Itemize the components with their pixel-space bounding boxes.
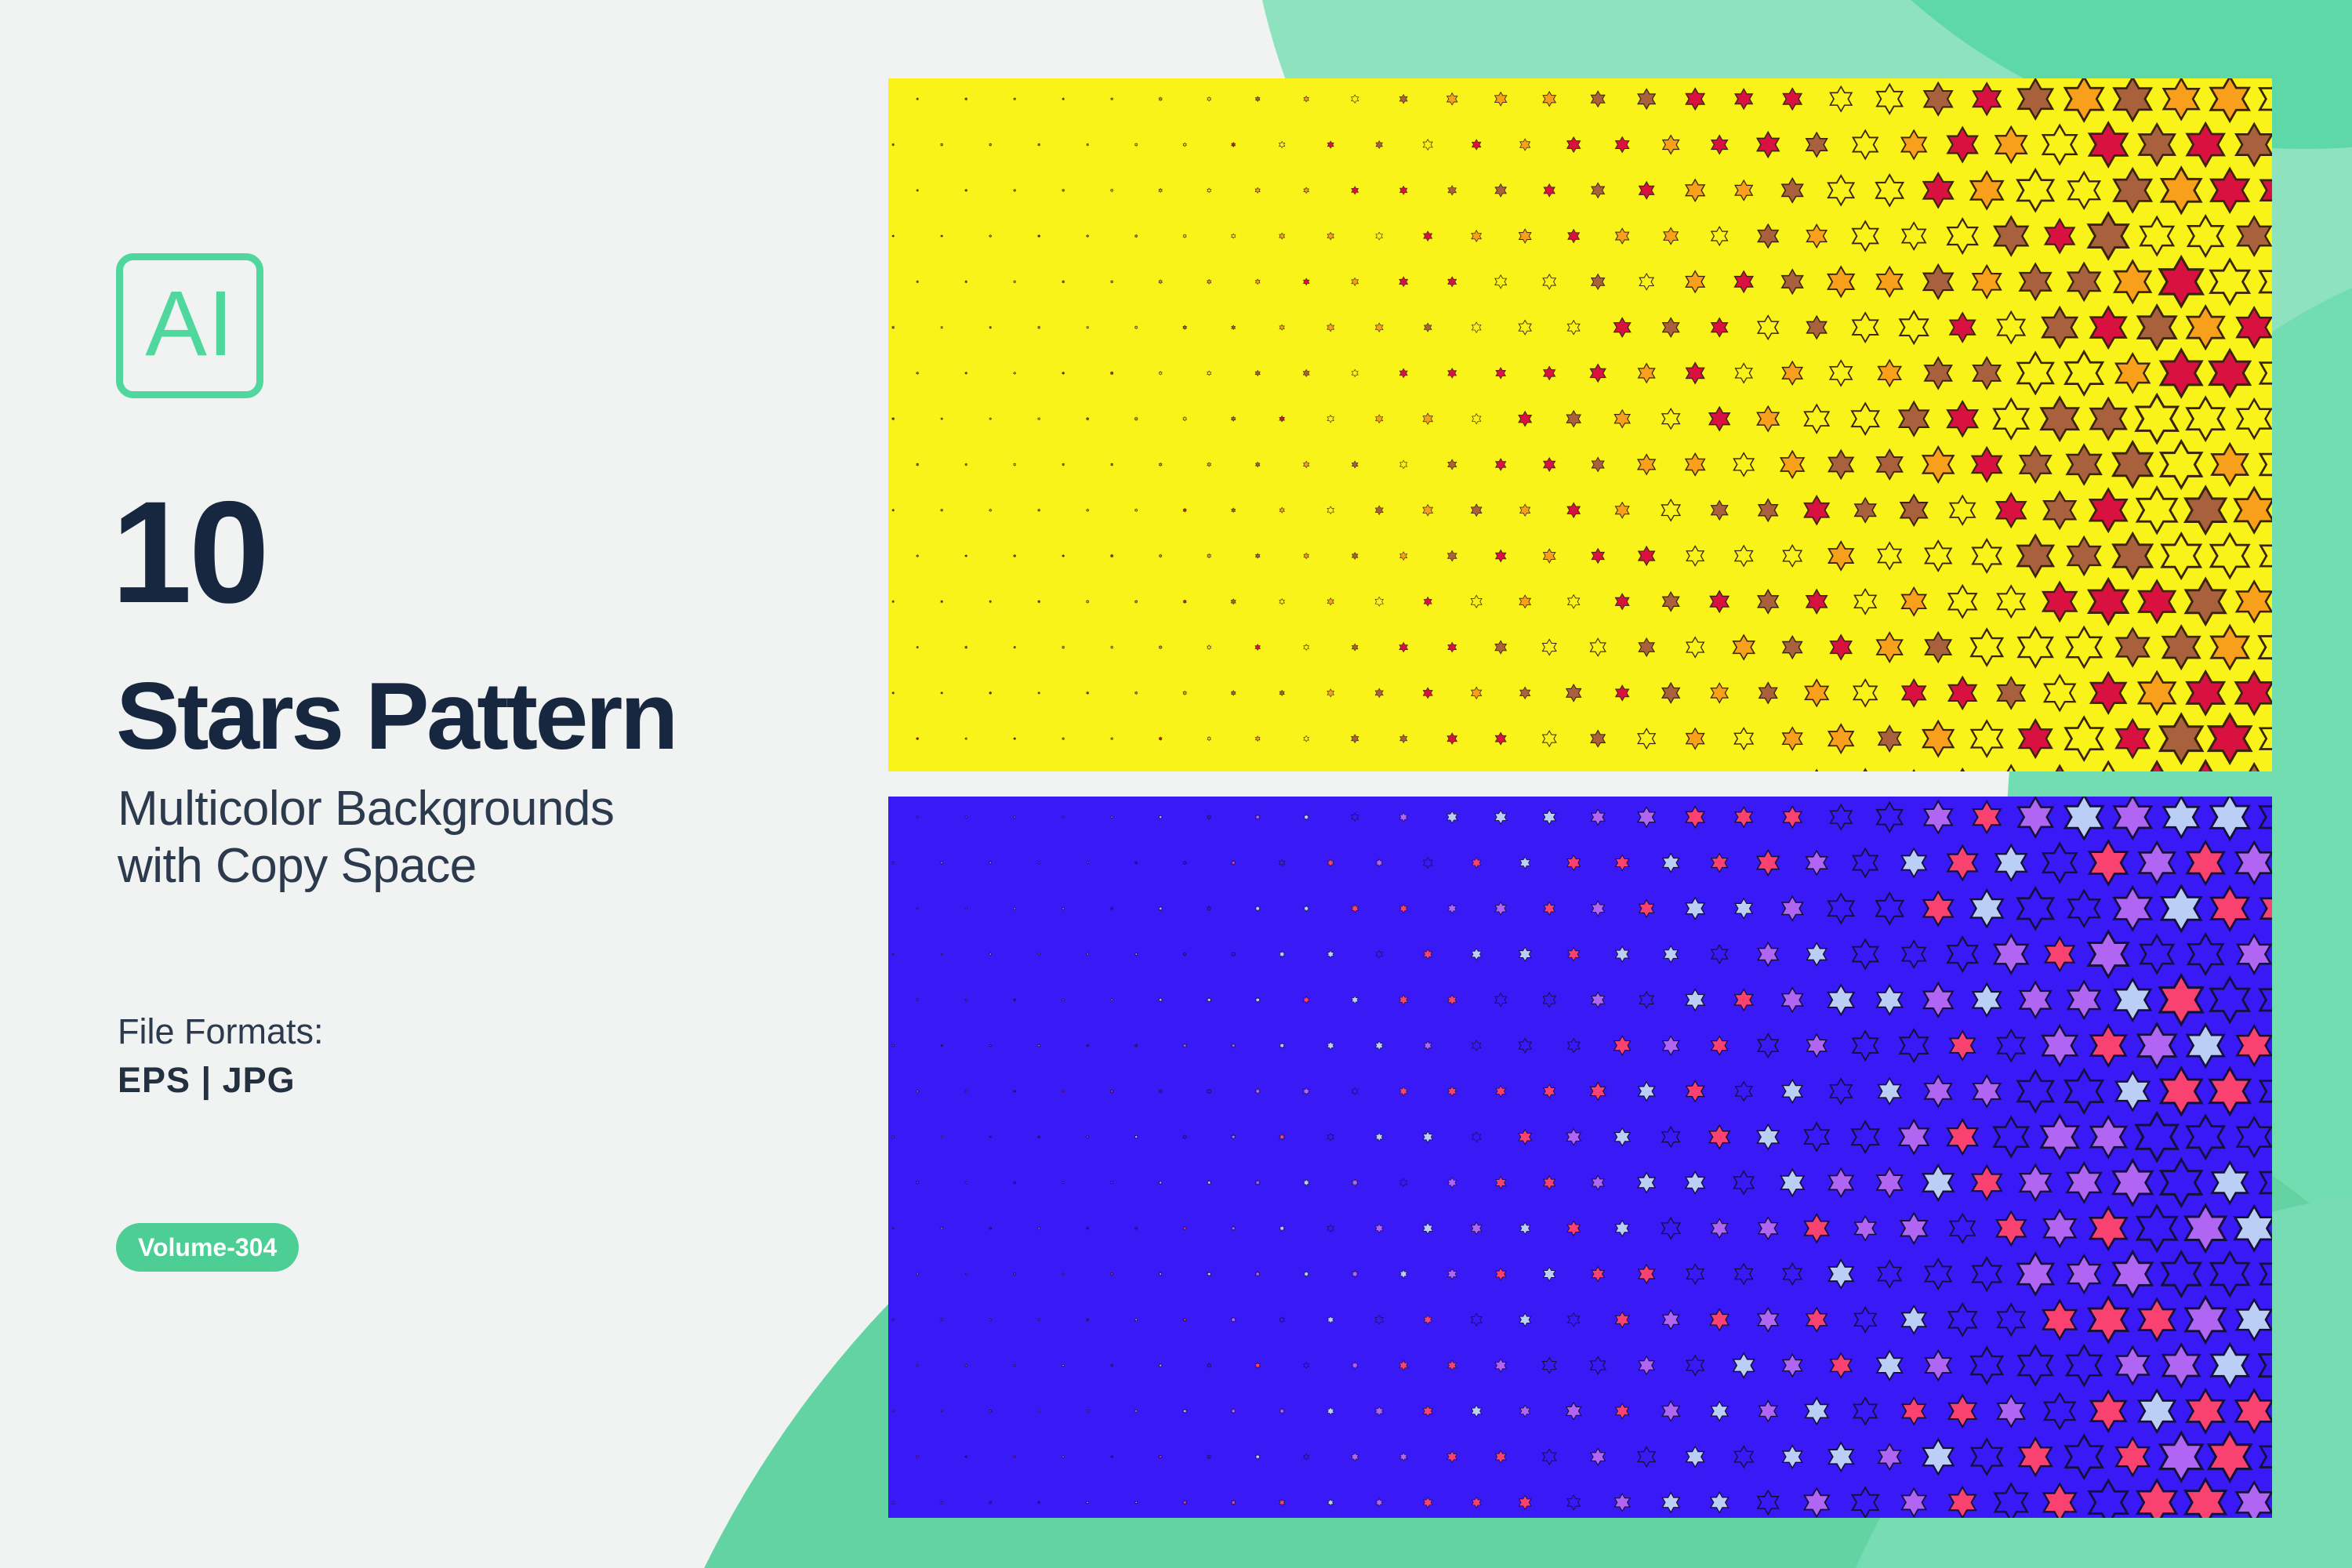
page-title-count: 10 [111,486,267,619]
copy-column: AI 10 Stars Pattern Multicolor Backgroun… [116,0,845,1568]
yellow-stars-preview[interactable] [888,78,2272,771]
page-subtitle: Multicolor Backgrounds with Copy Space [118,780,614,895]
file-formats-label: File Formats: [118,1011,324,1052]
page-subtitle-line-1: Multicolor Backgrounds [118,780,614,837]
yellow-stars-pattern [888,78,2272,771]
ai-badge-label: AI [145,278,234,370]
page-subtitle-line-2: with Copy Space [118,837,614,895]
blue-stars-preview[interactable] [888,797,2272,1518]
blue-stars-pattern [888,797,2272,1518]
volume-badge: Volume-304 [116,1223,299,1272]
page-title: Stars Pattern [116,668,676,764]
ai-file-format-icon: AI [116,253,263,398]
banner-canvas: AI 10 Stars Pattern Multicolor Backgroun… [0,0,2352,1568]
file-formats-value: EPS | JPG [118,1060,296,1101]
